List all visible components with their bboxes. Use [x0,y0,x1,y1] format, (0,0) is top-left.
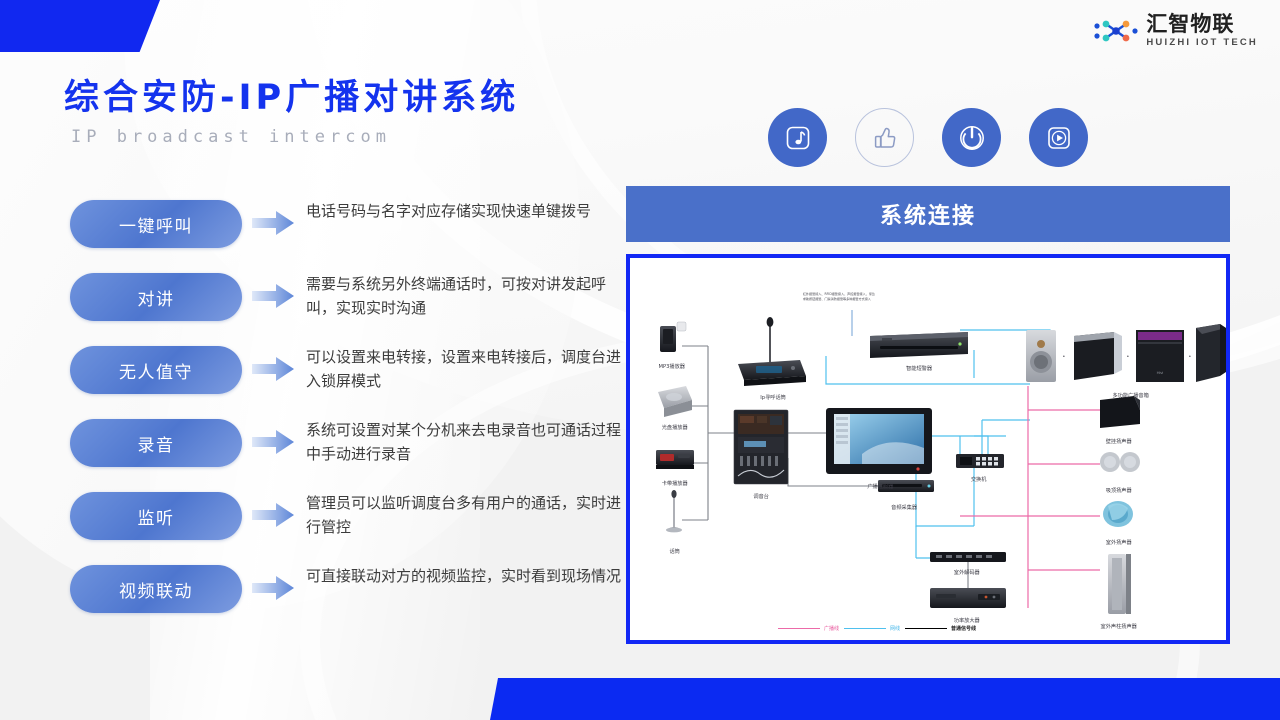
cd-player-device [658,386,692,417]
feature-desc-5: 可直接联动对方的视频监控，实时看到现场情况 [304,563,630,588]
music-note-icon [783,123,813,153]
network-switch-device [956,454,1004,468]
label-outdoor-column-speaker: 室外声柱扬声器 [1101,623,1137,630]
ceiling-speaker-device [1100,452,1140,472]
feature-row: 视频联动 可直接联动对方的视频监控，实时看到现场情况 [70,563,630,636]
feature-row: 监听 管理员可以监听调度台多有用户的通话，实时进行管控 [70,490,630,563]
feature-pill-1[interactable]: 对讲 [70,273,242,321]
legend-line-cyan [844,628,886,629]
feature-row: 录音 系统可设置对某个分机来去电录音也可通话过程中手动进行录音 [70,417,630,490]
corner-accent-bottom-right [490,678,1280,720]
panel-header: 系统连接 [626,186,1230,242]
brand-logo: 汇智物联 HUIZHI IOT TECH [1093,13,1258,48]
broadcast-server-device [826,408,932,474]
label-ceiling-speaker: 吸顶扬声器 [1106,487,1132,494]
legend-label-network: 网线 [890,625,900,632]
legend-line-black [905,628,947,629]
feature-pill-0[interactable]: 一键呼叫 [70,200,242,248]
feature-pill-3[interactable]: 录音 [70,419,242,467]
topology-svg: • • Hivi • [630,258,1226,640]
label-microphone: 话筒 [669,548,679,555]
feature-desc-2: 可以设置来电转接，设置来电转接后，调度台进入锁屏模式 [304,344,630,394]
label-mixer-console: 调音台 [753,493,769,500]
music-note-icon-button[interactable] [768,108,827,167]
label-audio-collector: 音频采集器 [891,504,917,511]
title-chinese: 综合安防-IP广播对讲系统 [64,78,519,118]
outdoor-speaker-device [1103,501,1133,527]
svg-text:•: • [1189,354,1191,360]
power-icon [956,122,988,154]
label-outdoor-speaker: 室外扬声器 [1106,539,1132,546]
arrow-right-icon [252,210,294,236]
label-cd-player: 光盘播放器 [662,424,688,431]
outdoor-decoder-device [930,552,1006,562]
microphone-device [666,490,682,532]
legend-broadcast-line: 广播线 [778,625,839,632]
thumbs-up-icon-button[interactable] [855,108,914,167]
arrow-5-wrap [242,563,304,613]
svg-text:•: • [1127,354,1129,360]
arrow-3-wrap [242,417,304,467]
legend-network-line: 网线 [844,625,900,632]
svg-text:Hivi: Hivi [1157,370,1164,375]
label-ip-paging-mic: Ip寻呼话筒 [760,394,786,401]
arrow-right-icon [252,283,294,309]
arrow-4-wrap [242,490,304,540]
multifunction-speaker-2 [1074,332,1122,380]
feature-pill-2[interactable]: 无人值守 [70,346,242,394]
arrow-right-icon [252,502,294,528]
feature-list: 一键呼叫 电话号码与名字对应存储实现快速单键拨号 对讲 需要与系统另外终端通话时… [70,198,630,636]
cassette-player-device [656,450,694,469]
arrow-2-wrap [242,344,304,394]
label-power-amplifier: 功率放大器 [954,617,980,624]
arrow-right-icon [252,356,294,382]
label-network-switch: 交换机 [971,476,987,483]
panel-body: • • Hivi • [626,254,1230,644]
system-connection-panel: 系统连接 [626,186,1230,644]
svg-text:•: • [1063,354,1065,360]
power-amplifier-device [930,588,1006,608]
arrow-1-wrap [242,271,304,321]
feature-pill-5[interactable]: 视频联动 [70,565,242,613]
smart-alarm-device [870,332,968,358]
label-cassette-player: 卡带播放器 [662,480,688,487]
legend-signal-line: 普通信号线 [905,625,976,632]
system-topology-diagram: • • Hivi • [630,258,1226,640]
mixer-console-device [734,410,788,484]
play-icon [1044,123,1074,153]
legend-label-signal: 普通信号线 [951,625,976,632]
corner-accent-top-left [0,0,160,52]
feature-row: 一键呼叫 电话号码与名字对应存储实现快速单键拨号 [70,198,630,271]
multifunction-speaker-4 [1196,324,1226,382]
label-wall-speaker: 壁挂扬声器 [1106,438,1132,445]
play-icon-button[interactable] [1029,108,1088,167]
feature-desc-1: 需要与系统另外终端通话时，可按对讲发起呼叫，实现实时沟通 [304,271,630,321]
feature-desc-0: 电话号码与名字对应存储实现快速单键拨号 [304,198,630,223]
arrow-0-wrap [242,198,304,248]
diagram-legend: 广播线 网线 普通信号线 [778,625,976,632]
mp3-player-device [660,322,686,352]
thumbs-up-icon [868,121,902,155]
molecule-network-icon [1093,16,1139,46]
arrow-right-icon [252,575,294,601]
title-english: IP broadcast intercom [71,127,519,147]
feature-row: 对讲 需要与系统另外终端通话时，可按对讲发起呼叫，实现实时沟通 [70,271,630,344]
multifunction-speaker-3: Hivi [1136,330,1184,382]
ip-paging-mic-device [738,317,806,386]
power-icon-button[interactable] [942,108,1001,167]
feature-desc-4: 管理员可以监听调度台多有用户的通话，实时进行管控 [304,490,630,540]
page-title: 综合安防-IP广播对讲系统 IP broadcast intercom [64,78,519,147]
label-mp3-player: MP3播放器 [658,363,684,370]
arrow-right-icon [252,429,294,455]
label-outdoor-decoder: 室外解码器 [954,569,980,576]
legend-line-pink [778,628,820,629]
feature-desc-3: 系统可设置对某个分机来去电录音也可通话过程中手动进行录音 [304,417,630,467]
label-multifunction-speaker: 多功能广播音箱 [1112,392,1148,399]
feature-row: 无人值守 可以设置来电转接，设置来电转接后，调度台进入锁屏模式 [70,344,630,417]
feature-pill-4[interactable]: 监听 [70,492,242,540]
outdoor-column-speaker-device [1108,554,1131,614]
label-smart-alarm: 智能短警器 [906,365,932,372]
label-broadcast-server: 广播控服器 [867,483,893,490]
wall-speaker-device [1100,396,1140,428]
legend-label-broadcast: 广播线 [824,625,839,632]
logo-text-en: HUIZHI IOT TECH [1146,37,1258,48]
multifunction-speaker-1 [1026,330,1056,382]
feature-icon-row [768,108,1088,167]
logo-text-cn: 汇智物联 [1146,13,1234,35]
diagram-annotation: 红外报警接入、RFID报警接入、声控报警接入、紧急求助按钮报警、门禁消防报警等多… [803,292,877,301]
